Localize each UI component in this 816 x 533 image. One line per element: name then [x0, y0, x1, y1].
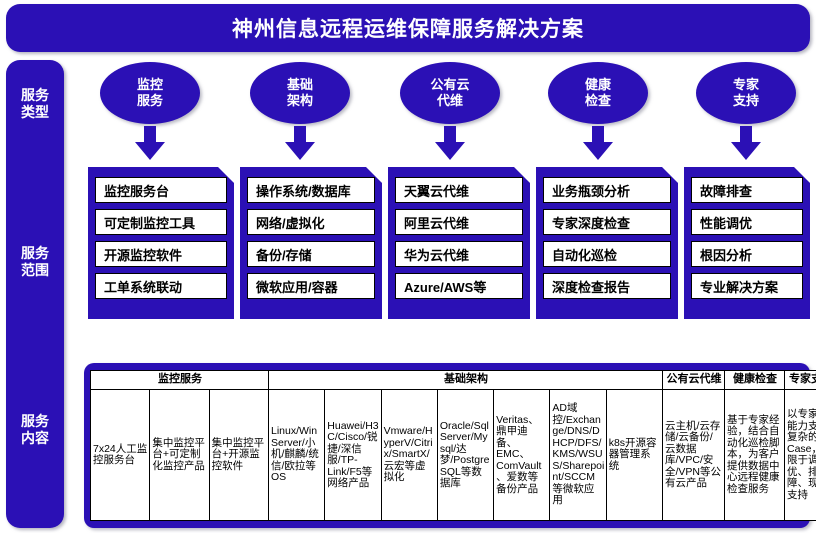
service-scope-item[interactable]: 开源监控软件 [95, 241, 227, 267]
service-scope-item[interactable]: 专家深度检查 [543, 209, 671, 235]
table-group-header: 专家支持 [785, 371, 816, 390]
service-scope-panel: 天翼云代维阿里云代维华为云代维Azure/AWS等 [388, 167, 530, 319]
table-cell: 7x24人工监控服务台 [91, 390, 150, 521]
service-scope-panel: 故障排查性能调优根因分析专业解决方案 [684, 167, 810, 319]
table-cell: Oracle/SqlServer/Mysql/达梦/PostgreSQL等数据库 [437, 390, 493, 521]
service-scope-panel: 操作系统/数据库网络/虚拟化备份/存储微软应用/容器 [240, 167, 382, 319]
service-scope-item[interactable]: 工单系统联动 [95, 273, 227, 299]
sidebar-item-service-scope: 服务 范围 [6, 245, 64, 279]
service-content-table: 监控服务基础架构公有云代维健康检查专家支持7x24人工监控服务台集中监控平台+可… [90, 370, 816, 521]
table-group-header: 公有云代维 [663, 371, 725, 390]
table-cell: Huawei/H3C/Cisco/锐捷/深信服/TP-Link/F5等网络产品 [325, 390, 381, 521]
slide-title-banner: 神州信息远程运维保障服务解决方案 [6, 4, 810, 52]
ellipse-label-line1: 基础 [287, 77, 313, 93]
sidebar-label-line1: 服务 [6, 87, 64, 104]
down-arrow-icon [583, 126, 613, 160]
down-arrow-icon [435, 126, 465, 160]
ellipse-label-line1: 公有云 [430, 77, 469, 93]
table-cell: k8s开源容器管理系统 [606, 390, 662, 521]
service-type-ellipse[interactable]: 监控服务 [100, 62, 200, 124]
sidebar-label-line1: 服务 [6, 245, 64, 262]
table-cell: AD域控/Exchange/DNS/DHCP/DFS/KMS/WSUS/Shar… [550, 390, 606, 521]
slide-canvas: 神州信息远程运维保障服务解决方案 服务 类型 服务 范围 服务 内容 监控服务基… [0, 0, 816, 533]
service-scope-item[interactable]: 操作系统/数据库 [247, 177, 375, 203]
service-scope-item[interactable]: 可定制监控工具 [95, 209, 227, 235]
ellipse-label-line1: 健康 [585, 77, 611, 93]
table-group-header: 健康检查 [725, 371, 785, 390]
ellipse-label-line1: 监控 [137, 77, 163, 93]
table-cell: 集中监控平台+开源监控软件 [209, 390, 268, 521]
ellipse-label-line2: 支持 [733, 93, 759, 109]
service-scope-item[interactable]: 自动化巡检 [543, 241, 671, 267]
service-scope-item[interactable]: 监控服务台 [95, 177, 227, 203]
table-cell: Vmware/HyperV/Citrix/SmartX/云宏等虚拟化 [381, 390, 437, 521]
service-scope-item[interactable]: 故障排查 [691, 177, 803, 203]
service-scope-panel: 监控服务台可定制监控工具开源监控软件工单系统联动 [88, 167, 234, 319]
service-scope-item[interactable]: 性能调优 [691, 209, 803, 235]
table-row: 7x24人工监控服务台集中监控平台+可定制化监控产品集中监控平台+开源监控软件L… [91, 390, 816, 521]
sidebar: 服务 类型 服务 范围 服务 内容 [6, 60, 64, 528]
sidebar-item-service-content: 服务 内容 [6, 413, 64, 447]
service-content-card: 监控服务基础架构公有云代维健康检查专家支持7x24人工监控服务台集中监控平台+可… [84, 363, 810, 528]
down-arrow-icon [285, 126, 315, 160]
service-scope-item[interactable]: 阿里云代维 [395, 209, 523, 235]
sidebar-label-line2: 范围 [6, 262, 64, 279]
ellipse-label-line2: 服务 [137, 93, 163, 109]
table-cell: 云主机/云存储/云备份/云数据库/VPC/安全/VPN等公有云产品 [663, 390, 725, 521]
service-scope-item[interactable]: 天翼云代维 [395, 177, 523, 203]
down-arrow-icon [135, 126, 165, 160]
service-type-ellipse[interactable]: 基础架构 [250, 62, 350, 124]
ellipse-label-line1: 专家 [733, 77, 759, 93]
service-scope-item[interactable]: 华为云代维 [395, 241, 523, 267]
page-title: 神州信息远程运维保障服务解决方案 [232, 13, 584, 43]
ellipse-label-line2: 架构 [287, 93, 313, 109]
down-arrow-icon [731, 126, 761, 160]
table-cell: 以专家的能力支持复杂的Case，不限于调优、排障、现场支持 [785, 390, 816, 521]
ellipse-label-line2: 代维 [430, 93, 469, 109]
table-cell: 基于专家经验，结合自动化巡检脚本，为客户提供数据中心远程健康检查服务 [725, 390, 785, 521]
service-scope-item[interactable]: 备份/存储 [247, 241, 375, 267]
service-scope-item[interactable]: 深度检查报告 [543, 273, 671, 299]
sidebar-label-line1: 服务 [6, 413, 64, 430]
service-scope-panel: 业务瓶颈分析专家深度检查自动化巡检深度检查报告 [536, 167, 678, 319]
service-scope-item[interactable]: Azure/AWS等 [395, 273, 523, 299]
service-scope-item[interactable]: 业务瓶颈分析 [543, 177, 671, 203]
sidebar-label-line2: 内容 [6, 430, 64, 447]
table-header-row: 监控服务基础架构公有云代维健康检查专家支持 [91, 371, 816, 390]
table-cell: Veritas、鼎甲迪备、EMC、ComVault、爱数等备份产品 [494, 390, 550, 521]
table-group-header: 基础架构 [269, 371, 663, 390]
service-scope-item[interactable]: 微软应用/容器 [247, 273, 375, 299]
table-cell: 集中监控平台+可定制化监控产品 [150, 390, 209, 521]
service-type-ellipse[interactable]: 公有云代维 [400, 62, 500, 124]
service-type-ellipse[interactable]: 健康检查 [548, 62, 648, 124]
sidebar-label-line2: 类型 [6, 104, 64, 121]
sidebar-item-service-type: 服务 类型 [6, 87, 64, 121]
service-scope-item[interactable]: 网络/虚拟化 [247, 209, 375, 235]
ellipse-label-line2: 检查 [585, 93, 611, 109]
service-type-ellipse[interactable]: 专家支持 [696, 62, 796, 124]
table-cell: Linux/Win Server/小机/麒麟/统信/欧拉等OS [269, 390, 325, 521]
table-group-header: 监控服务 [91, 371, 269, 390]
service-scope-item[interactable]: 专业解决方案 [691, 273, 803, 299]
service-scope-item[interactable]: 根因分析 [691, 241, 803, 267]
